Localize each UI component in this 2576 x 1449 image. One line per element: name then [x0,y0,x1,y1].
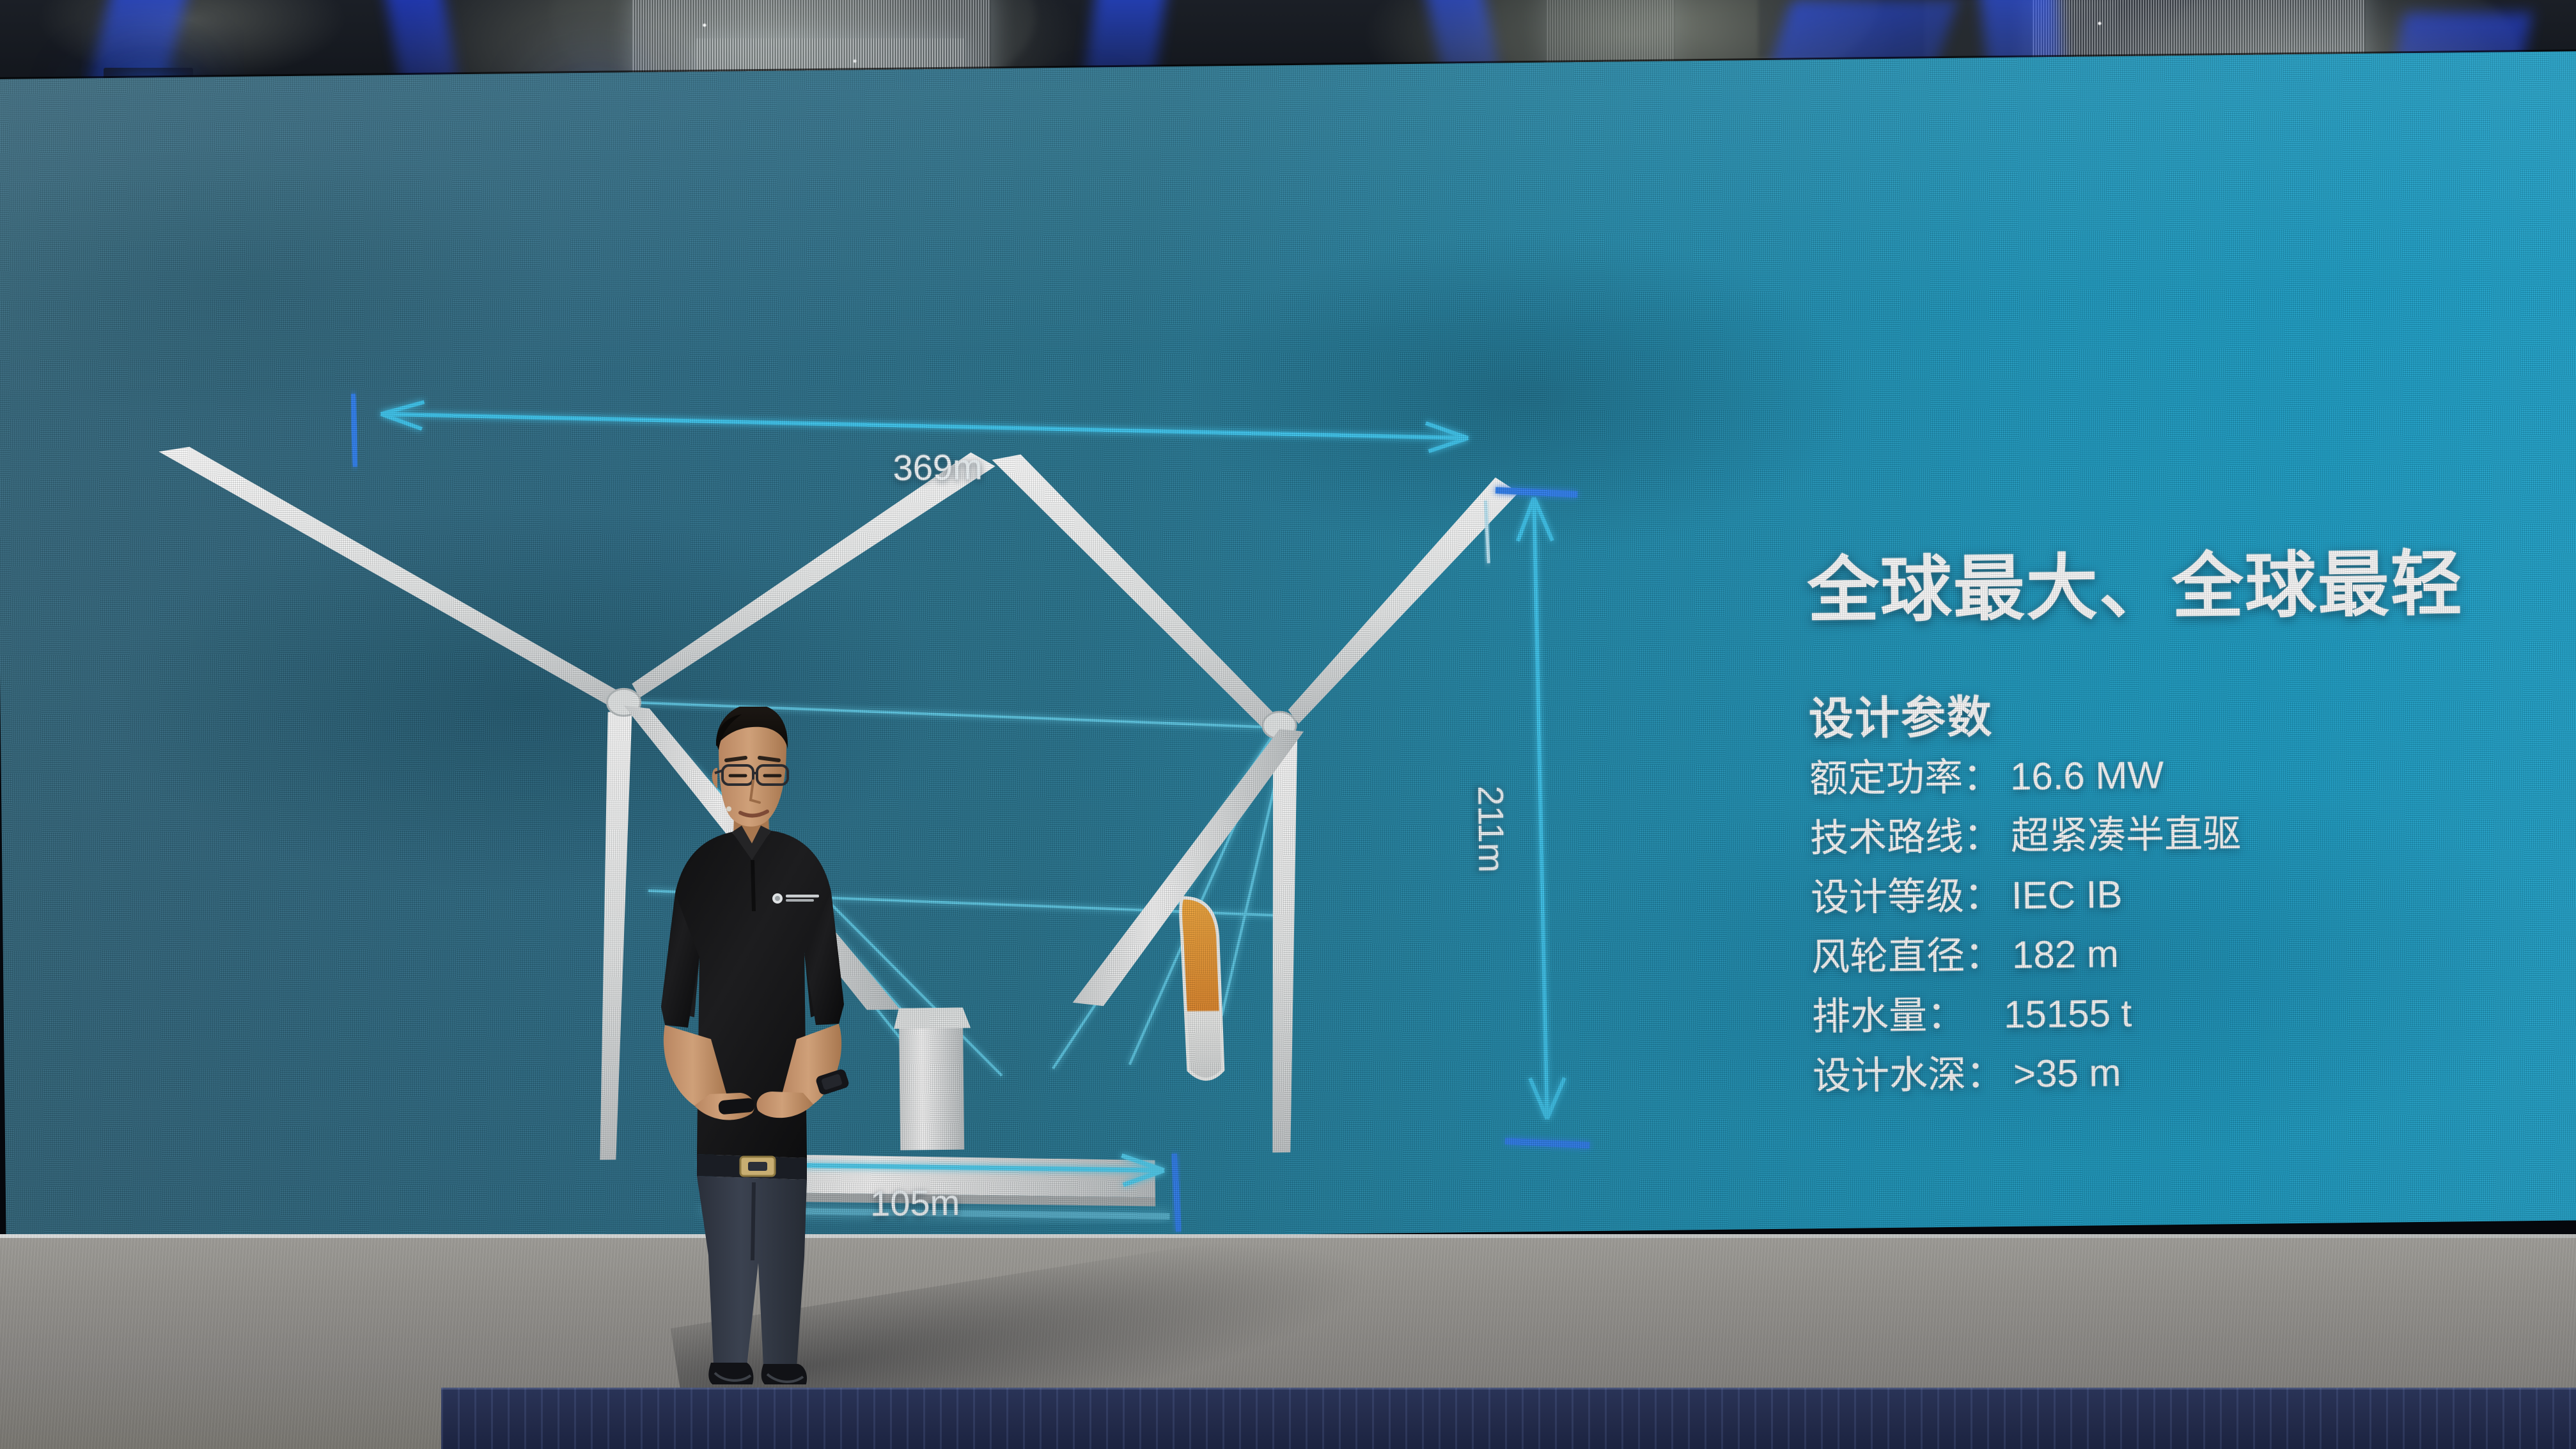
ear [712,768,717,788]
slide-subhead: 设计参数 [1808,681,1993,748]
spec-row: 设计等级： IEC IB [1811,874,2242,917]
dimension-label-369m: 369m [893,446,983,489]
spec-list: 额定功率： 16.6 MW 技术路线： 超紧凑半直驱 设计等级： IEC IB … [1809,755,2244,1116]
stage-apron [441,1388,2576,1449]
apron-stripes [441,1388,2576,1449]
mooring-buoy [1180,897,1223,1079]
speaker-presenter [633,707,933,1384]
stage-scene: 369m 211m 105m 全球最大、全球最轻 设计参数 额定功率： 16.6… [0,0,2576,1449]
dimension-369m-ticks [352,394,355,467]
spec-value: 182 m [2012,935,2119,975]
spec-row: 设计水深： >35 m [1813,1053,2244,1095]
right-rotor [992,449,1526,1155]
spec-value: IEC IB [2011,875,2123,915]
speaker-figure [633,707,933,1384]
spec-value: >35 m [2013,1054,2121,1093]
dimension-label-211m: 211m [1470,785,1512,873]
spec-key: 风轮直径： [1811,936,2004,976]
spec-row: 额定功率： 16.6 MW [1809,755,2241,798]
led-video-wall: 369m 211m 105m 全球最大、全球最轻 设计参数 额定功率： 16.6… [0,51,2576,1248]
spec-key: 排水量： [1812,996,1966,1037]
spec-row: 技术路线： 超紧凑半直驱 [1810,815,2242,858]
dimension-105m-tick [1174,1154,1178,1232]
spec-key: 设计等级： [1811,877,2003,917]
belt-buckle-inner [748,1162,767,1171]
spec-value: 16.6 MW [2010,756,2164,796]
spec-key: 额定功率： [1809,758,2002,798]
spec-value: 15155 t [2004,994,2132,1034]
spec-key: 技术路线： [1810,817,2002,858]
dimension-211m [1517,497,1565,1120]
eyebrow-left [726,758,745,760]
spec-key: 设计水深： [1813,1055,2005,1095]
eyebrow-right [760,758,779,760]
lapel-microphone [726,806,731,811]
spec-row: 风轮直径： 182 m [1811,934,2243,976]
spec-value: 超紧凑半直驱 [2011,815,2242,856]
spec-row: 排水量： 15155 t [1812,993,2244,1036]
slide-headline: 全球最大、全球最轻 [1807,526,2464,636]
